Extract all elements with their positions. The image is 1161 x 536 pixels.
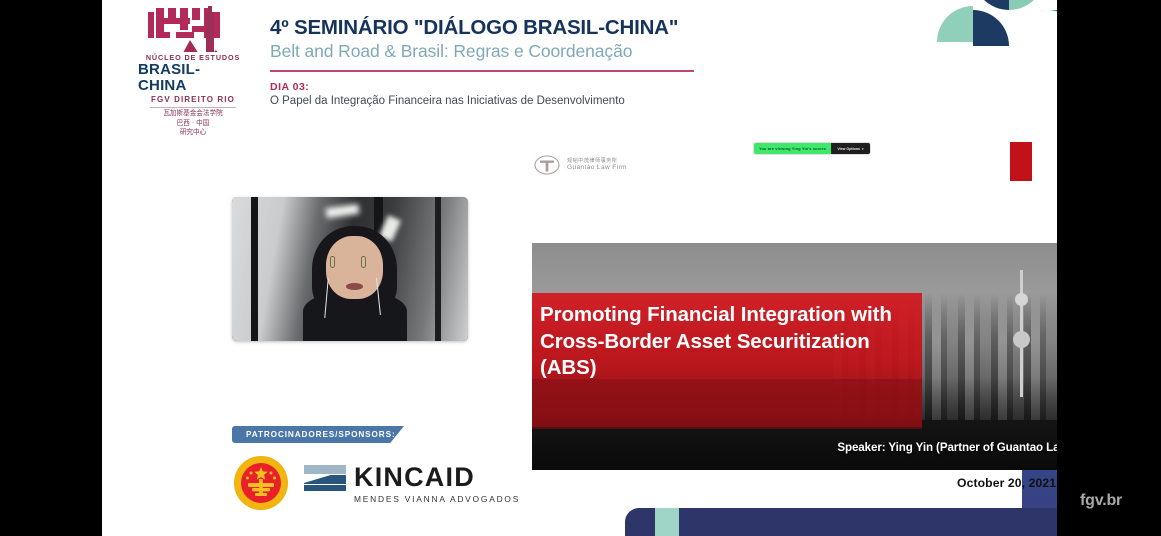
kincaid-name: KINCAID [354,462,475,493]
seminar-title: 4º SEMINÁRIO "DIÁLOGO BRASIL-CHINA" [270,16,910,40]
guantao-en-name: Guantao Law Firm [567,164,627,173]
logo-cn-line3: 研究中心 [163,128,222,138]
kincaid-mark-icon [304,463,346,493]
slide-date: October 20, 2021 [957,476,1056,490]
seminar-day-label: DIA 03: [270,81,910,93]
header-divider [270,70,694,72]
webcam-frame-far-right [435,197,441,341]
webcam-video-tile[interactable] [232,197,468,341]
decorative-quarter-circles [937,0,1057,78]
slide-speaker: Speaker: Ying Yin (Partner of Guantao La… [837,441,1057,454]
slide-title-line2: Cross-Border Asset Securitization [540,329,933,356]
logo-mark-icon [146,6,240,52]
speaker-mouth [346,283,363,289]
logo-org-line3: FGV DIREITO RIO [151,95,235,104]
nucleo-brasil-china-logo: NÚCLEO DE ESTUDOS BRASIL-CHINA FGV DIREI… [138,6,248,138]
guantao-law-firm-logo: 观韬中茂律师事务所 Guantao Law Firm [534,152,627,178]
guantao-mark-icon [534,152,560,178]
shared-screen-canvas: NÚCLEO DE ESTUDOS BRASIL-CHINA FGV DIREI… [102,0,1057,536]
logo-divider [150,107,236,108]
speaker-glasses [328,256,382,268]
screen-share-message: You are viewing Ying Yin's screen [754,143,831,154]
sponsors-row: KINCAID MENDES VIANNA ADVOGADOS [234,456,520,510]
kincaid-sublabel: MENDES VIANNA ADVOGADOS [354,494,520,504]
slide-title-line3: (ABS) [540,355,933,382]
kincaid-logo: KINCAID MENDES VIANNA ADVOGADOS [304,462,520,504]
webcam-frame-left [251,197,258,341]
slide-title-line1: Promoting Financial Integration with [540,302,933,329]
logo-cn-line1: 瓦加斯基金会法学院 [163,109,222,119]
decorative-navy-bar [625,508,1057,536]
seminar-day-description: O Papel da Integração Financeira nas Ini… [270,95,910,107]
seminar-subtitle: Belt and Road & Brasil: Regras e Coorden… [270,41,910,62]
seminar-header: 4º SEMINÁRIO "DIÁLOGO BRASIL-CHINA" Belt… [270,16,910,107]
sponsors-tag: PATROCINADORES/SPONSORS: [232,426,404,443]
slide-oriental-pearl-tower [1020,270,1023,397]
view-options-button[interactable]: View Options ▾ [831,143,869,154]
screen-share-notice: You are viewing Ying Yin's screen View O… [754,143,870,154]
slide-red-band-shadow [532,379,922,429]
chevron-down-icon: ▾ [862,147,864,151]
china-national-emblem-icon [234,456,288,510]
view-options-label: View Options [837,147,860,151]
logo-org-line2: BRASIL-CHINA [138,62,248,94]
fgv-watermark: fgv.br [1080,492,1122,510]
slide-title: Promoting Financial Integration with Cro… [540,302,933,382]
decorative-teal-accent [655,508,679,536]
decorative-red-block [1010,142,1032,181]
presentation-slide[interactable]: Promoting Financial Integration with Cro… [532,243,1057,470]
video-letterbox: NÚCLEO DE ESTUDOS BRASIL-CHINA FGV DIREI… [0,0,1161,536]
